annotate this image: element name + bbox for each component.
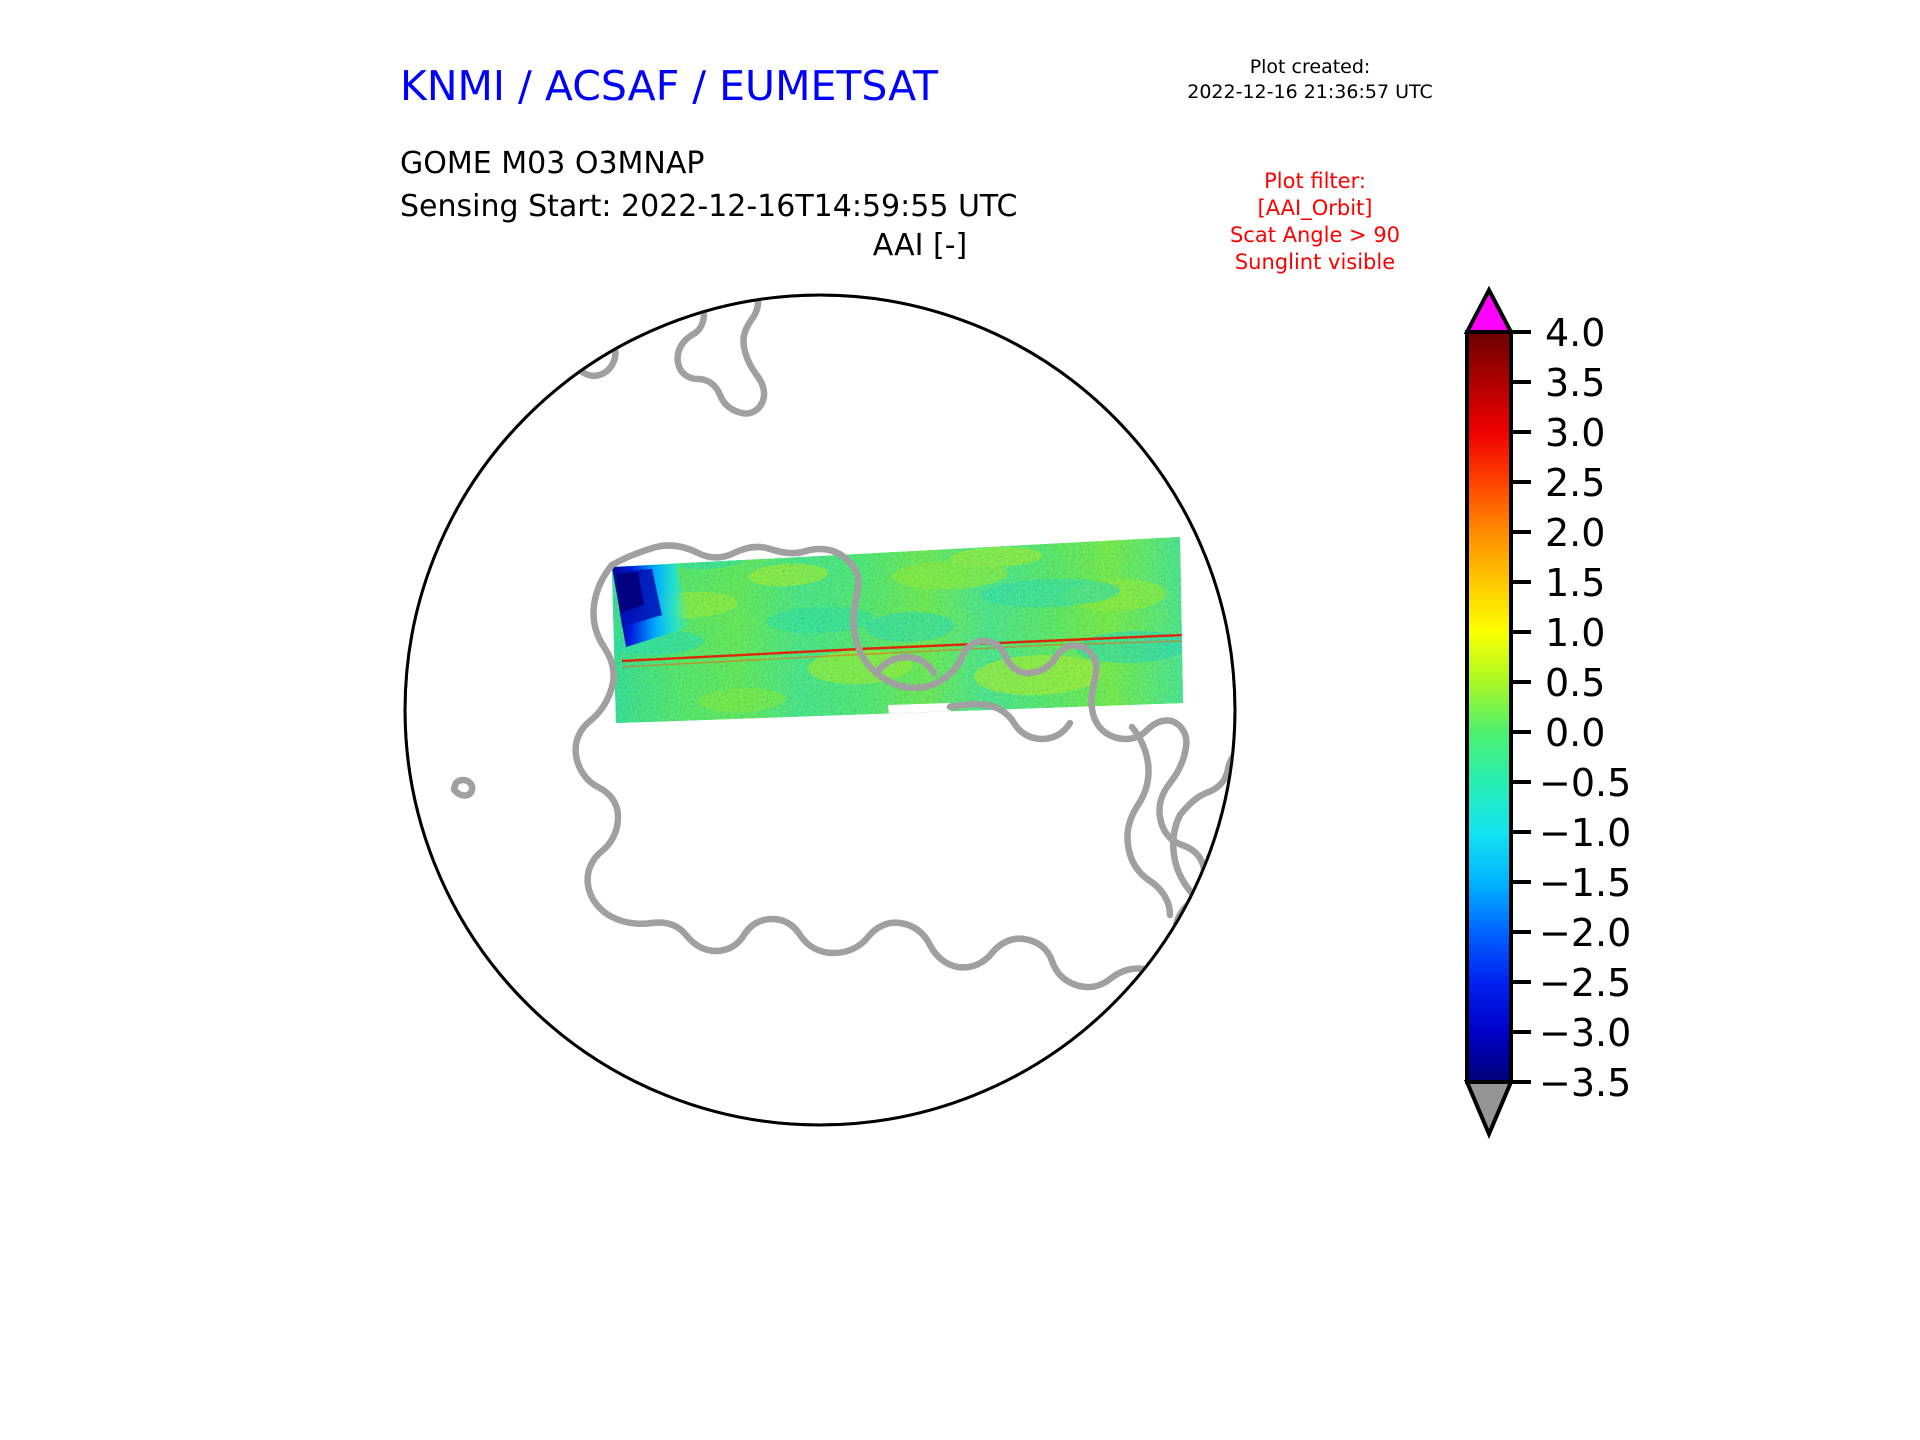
plot-filter-condition: Scat Angle > 90 [1180, 222, 1450, 249]
colorbar-ticks: 4.0 3.5 3.0 2.5 2.0 1.5 1.0 0.5 0.0 −0.5 [1511, 311, 1631, 1105]
colorbar-tick-label: −2.5 [1539, 961, 1631, 1005]
plot-filter-note: Sunglint visible [1180, 249, 1450, 276]
colorbar-tick-label: −1.0 [1539, 811, 1631, 855]
islet-small [640, 311, 656, 327]
colorbar-tick-label: 1.5 [1545, 561, 1605, 605]
plot-created-block: Plot created: 2022-12-16 21:36:57 UTC [1160, 55, 1460, 105]
falkland-islands [1253, 987, 1285, 1014]
colorbar-gradient[interactable] [1467, 332, 1511, 1082]
colorbar-tick-label: −1.5 [1539, 861, 1631, 905]
plot-filter-name: [AAI_Orbit] [1180, 195, 1450, 222]
colorbar[interactable]: 4.0 3.5 3.0 2.5 2.0 1.5 1.0 0.5 0.0 −0.5 [1455, 280, 1715, 1310]
plot-created-timestamp: 2022-12-16 21:36:57 UTC [1160, 80, 1460, 105]
colorbar-tick-label: 3.0 [1545, 411, 1605, 455]
colorbar-tick-label: 4.0 [1545, 311, 1605, 355]
colorbar-svg[interactable]: 4.0 3.5 3.0 2.5 2.0 1.5 1.0 0.5 0.0 −0.5 [1455, 280, 1715, 1310]
plot-created-label: Plot created: [1160, 55, 1460, 80]
colorbar-tick-label: −0.5 [1539, 761, 1631, 805]
header-institutes-title: KNMI / ACSAF / EUMETSAT [400, 62, 938, 110]
colorbar-over-arrow [1467, 290, 1511, 332]
colorbar-tick-label: 0.0 [1545, 711, 1605, 755]
colorbar-tick-label: 2.5 [1545, 461, 1605, 505]
colorbar-tick-label: −2.0 [1539, 911, 1631, 955]
plot-filter-label: Plot filter: [1180, 168, 1450, 195]
polar-stereographic-map[interactable] [390, 275, 1420, 1335]
colorbar-tick-label: −3.0 [1539, 1011, 1631, 1055]
tierra-del-fuego [1147, 994, 1202, 1039]
sensing-start: Sensing Start: 2022-12-16T14:59:55 UTC [400, 185, 1017, 228]
map-plot-area[interactable] [390, 275, 1420, 1335]
product-title-block: GOME M03 O3MNAP Sensing Start: 2022-12-1… [400, 142, 1017, 228]
colorbar-tick-label: 3.5 [1545, 361, 1605, 405]
colorbar-tick-label: 1.0 [1545, 611, 1605, 655]
colorbar-tick-label: −3.5 [1539, 1061, 1631, 1105]
colorbar-under-arrow [1467, 1082, 1511, 1134]
product-name: GOME M03 O3MNAP [400, 142, 1017, 185]
colorbar-tick-label: 2.0 [1545, 511, 1605, 555]
plot-filter-block: Plot filter: [AAI_Orbit] Scat Angle > 90… [1180, 168, 1450, 276]
colorbar-tick-label: 0.5 [1545, 661, 1605, 705]
